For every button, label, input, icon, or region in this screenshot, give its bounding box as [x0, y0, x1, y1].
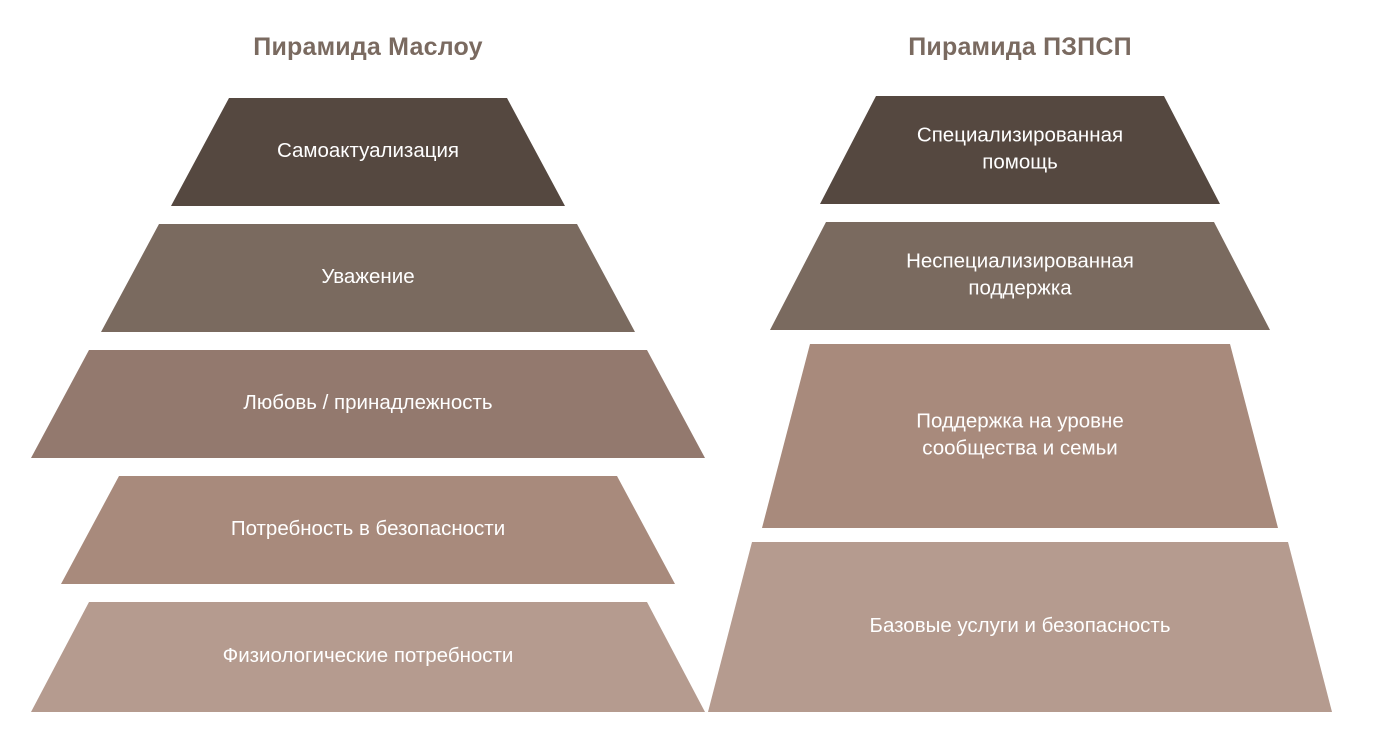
pyramid-level[interactable]: Поддержка на уровнесообщества и семьи: [762, 344, 1278, 528]
pyramid-level-label-line: сообщества и семьи: [922, 437, 1117, 460]
pyramid-level-label-line: Базовые услуги и безопасность: [870, 614, 1171, 637]
pyramid-level-label-line: Поддержка на уровне: [916, 410, 1124, 433]
pyramid-level-label-line: поддержка: [968, 277, 1072, 300]
pyramid-pzpsp: СпециализированнаяпомощьНеспециализирова…: [0, 0, 1397, 750]
pyramid-level-label-line: Неспециализированная: [906, 250, 1134, 273]
pyramid-level-label-line: помощь: [982, 151, 1058, 174]
pyramid-level-label: Базовые услуги и безопасность: [870, 614, 1171, 637]
pyramid-level[interactable]: Специализированнаяпомощь: [820, 96, 1220, 204]
pyramid-level[interactable]: Неспециализированнаяподдержка: [770, 222, 1270, 330]
diagram-canvas: Пирамида Маслоу Пирамида ПЗПСП Самоактуа…: [0, 0, 1397, 750]
pyramid-level[interactable]: Базовые услуги и безопасность: [708, 542, 1332, 712]
pyramid-level-label-line: Специализированная: [917, 124, 1123, 147]
